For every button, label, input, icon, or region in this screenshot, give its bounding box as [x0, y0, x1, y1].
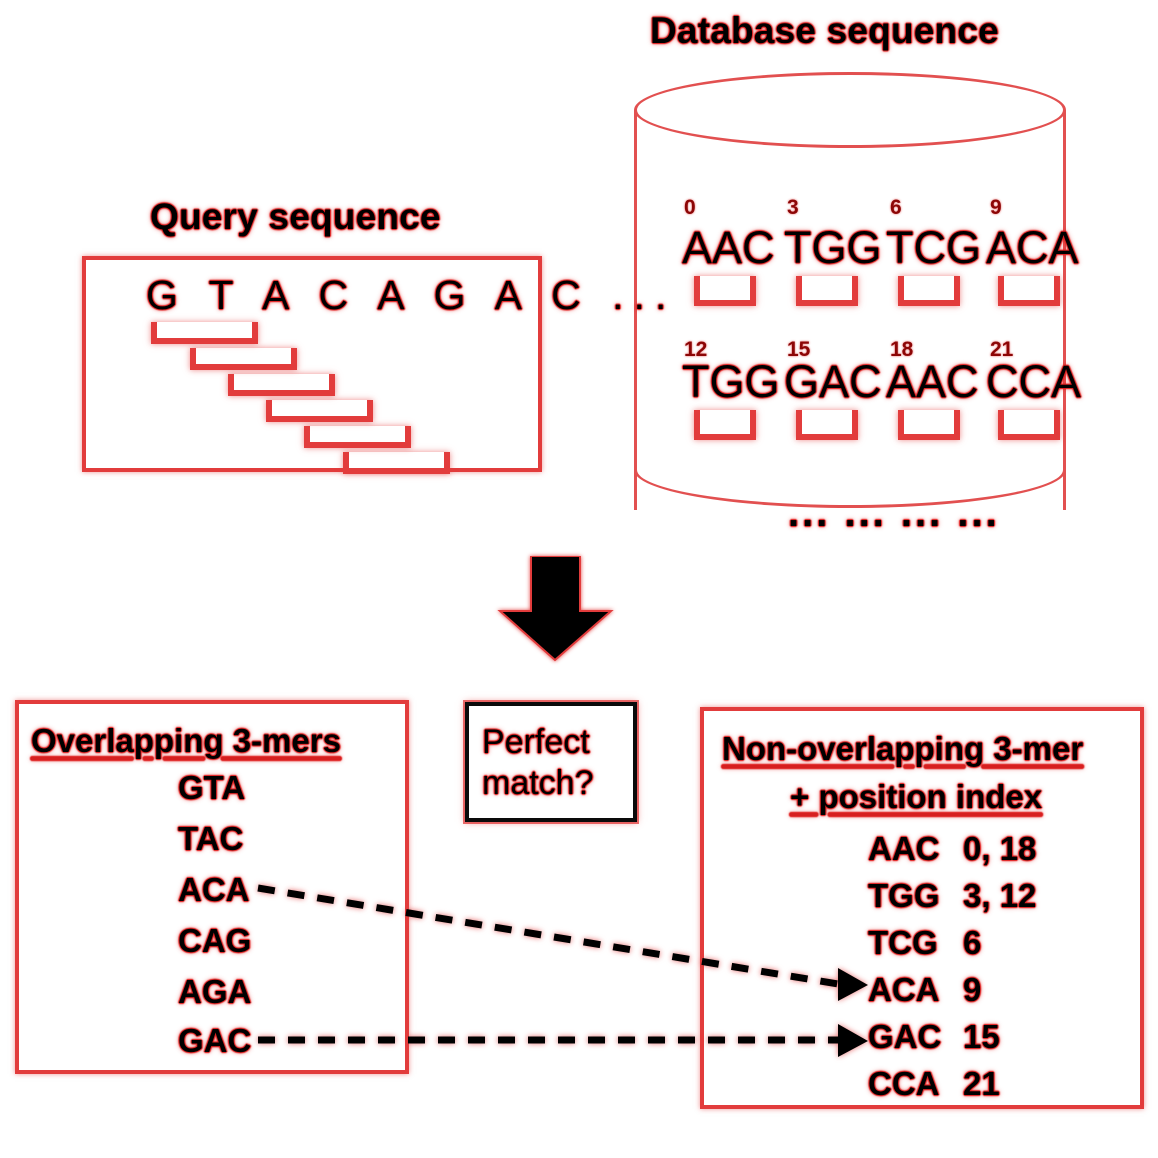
connector-gac: [258, 1024, 868, 1057]
connector-arrows-layer: [0, 0, 1158, 1158]
figure-canvas: Query sequence Database sequence 0 3 6 9…: [0, 0, 1158, 1158]
connector-aca: [258, 888, 868, 1001]
